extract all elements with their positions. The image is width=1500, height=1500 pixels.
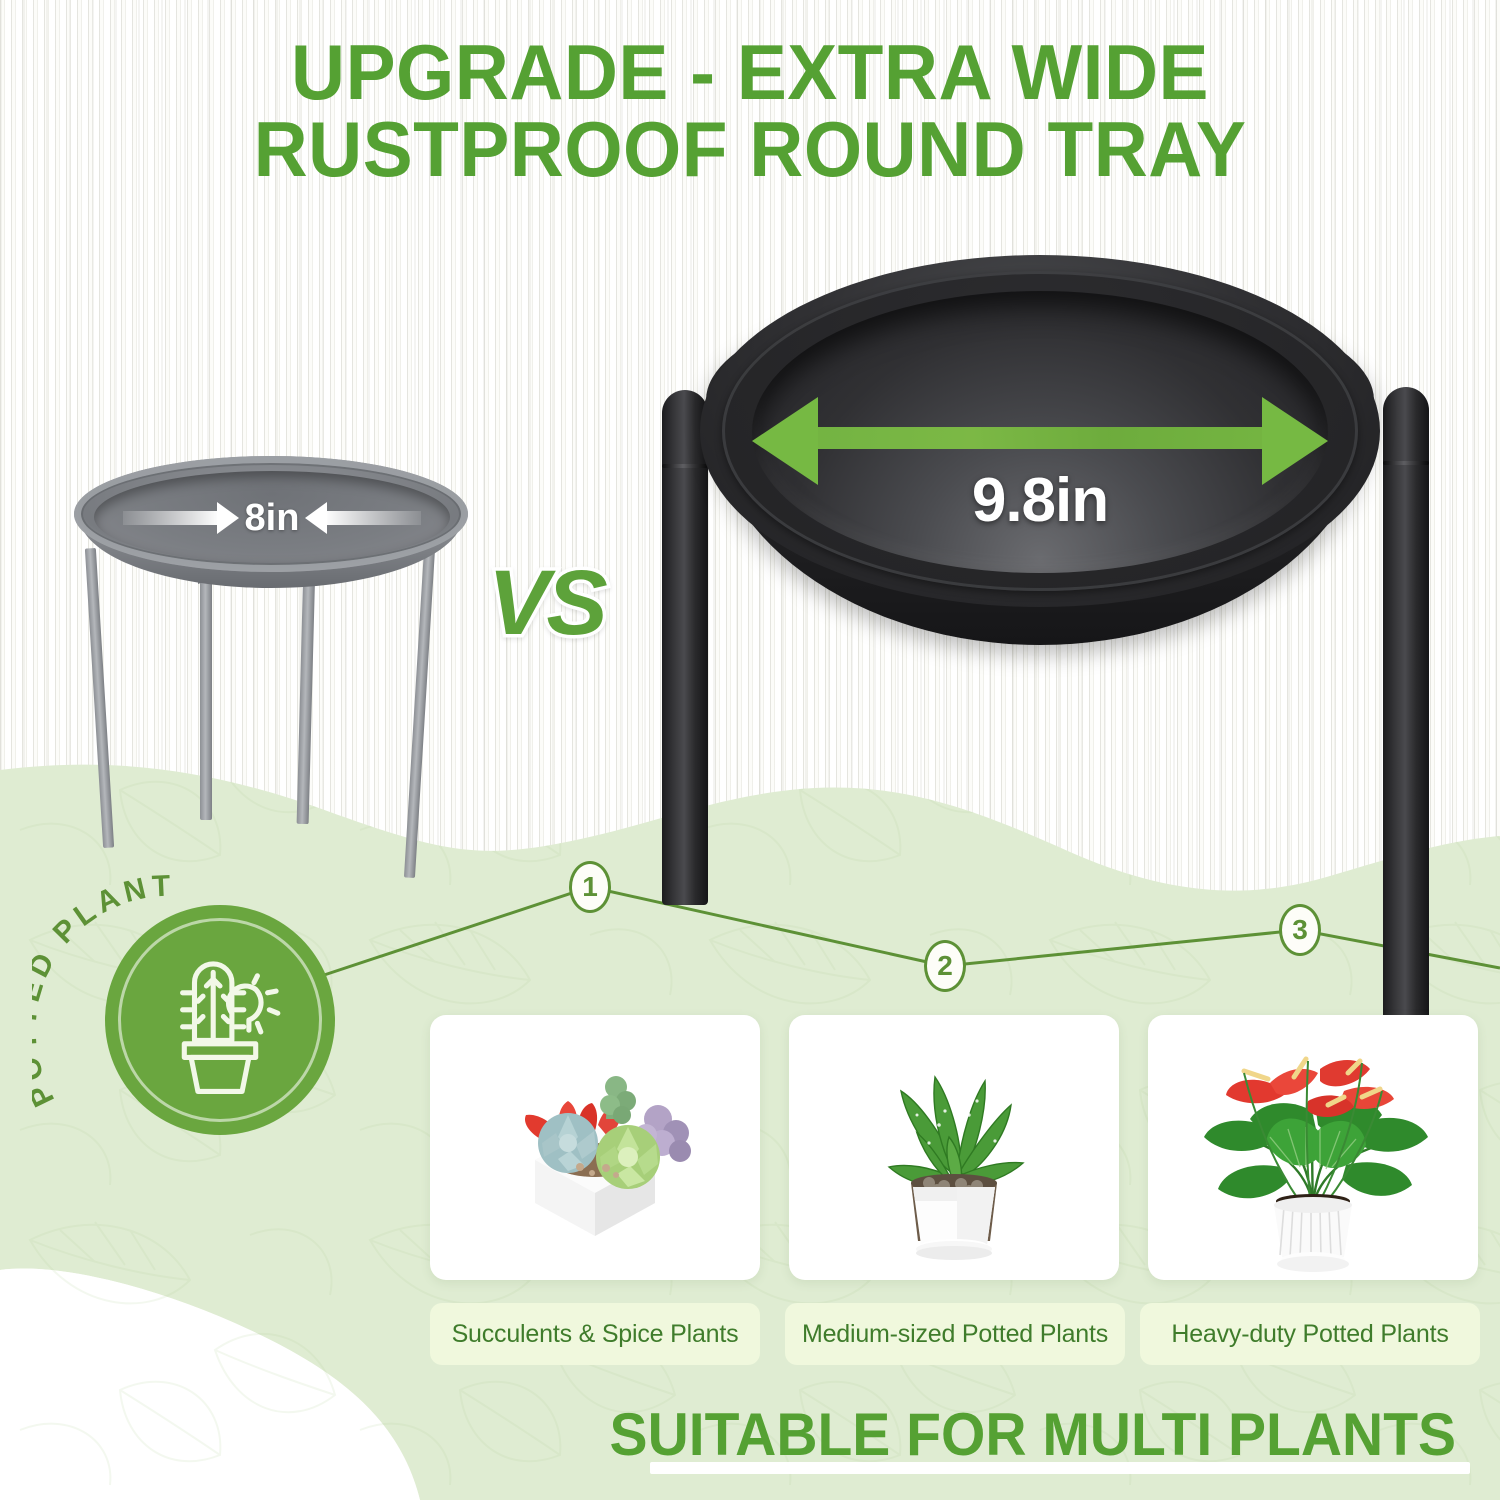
plant-caption-1: Succulents & Spice Plants bbox=[430, 1303, 760, 1365]
plant-card-3[interactable] bbox=[1148, 1015, 1478, 1280]
plant-card-2[interactable] bbox=[789, 1015, 1119, 1280]
new-product-black-stand: 9.8in bbox=[600, 255, 1480, 905]
title-line-2: RUSTPROOF ROUND TRAY bbox=[30, 111, 1470, 188]
connector-node-2[interactable]: 2 bbox=[924, 940, 966, 992]
footer-title: SUITABLE FOR MULTI PLANTS bbox=[610, 1405, 1456, 1465]
black-tray: 9.8in bbox=[700, 255, 1380, 665]
black-tray-measure-arrow bbox=[752, 405, 1328, 465]
footer-underline bbox=[650, 1462, 1470, 1474]
connector-node-3[interactable]: 3 bbox=[1279, 904, 1321, 956]
title-line-1: UPGRADE - EXTRA WIDE bbox=[291, 28, 1209, 116]
plant-caption-2: Medium-sized Potted Plants bbox=[785, 1303, 1125, 1365]
page-title: UPGRADE - EXTRA WIDE RUSTPROOF ROUND TRA… bbox=[30, 34, 1470, 188]
gray-tray: 8in bbox=[70, 452, 474, 612]
double-arrow-shaft-icon bbox=[812, 427, 1268, 449]
plant-card-1[interactable] bbox=[430, 1015, 760, 1280]
plant-caption-3: Heavy-duty Potted Plants bbox=[1140, 1303, 1480, 1365]
aloe-white-round-pot-photo bbox=[789, 1015, 1119, 1280]
cactus-icon bbox=[135, 935, 305, 1105]
connector-node-1[interactable]: 1 bbox=[569, 861, 611, 913]
old-size-label: 8in bbox=[245, 499, 300, 537]
gray-tray-measure-arrows: 8in bbox=[94, 490, 450, 546]
old-product-gray-stand: 8in bbox=[62, 452, 482, 872]
arrow-right-white-icon bbox=[123, 511, 219, 525]
anthurium-ribbed-white-pot-photo bbox=[1148, 1015, 1478, 1280]
vs-label: VS bbox=[488, 557, 605, 649]
succulents-hexagon-pot-photo bbox=[430, 1015, 760, 1280]
new-size-label: 9.8in bbox=[752, 470, 1328, 532]
arrow-left-white-icon bbox=[325, 511, 421, 525]
potted-plant-badge bbox=[105, 905, 335, 1135]
black-stand-leg-right bbox=[1383, 387, 1429, 1032]
infographic-canvas: UPGRADE - EXTRA WIDE RUSTPROOF ROUND TRA… bbox=[0, 0, 1500, 1500]
